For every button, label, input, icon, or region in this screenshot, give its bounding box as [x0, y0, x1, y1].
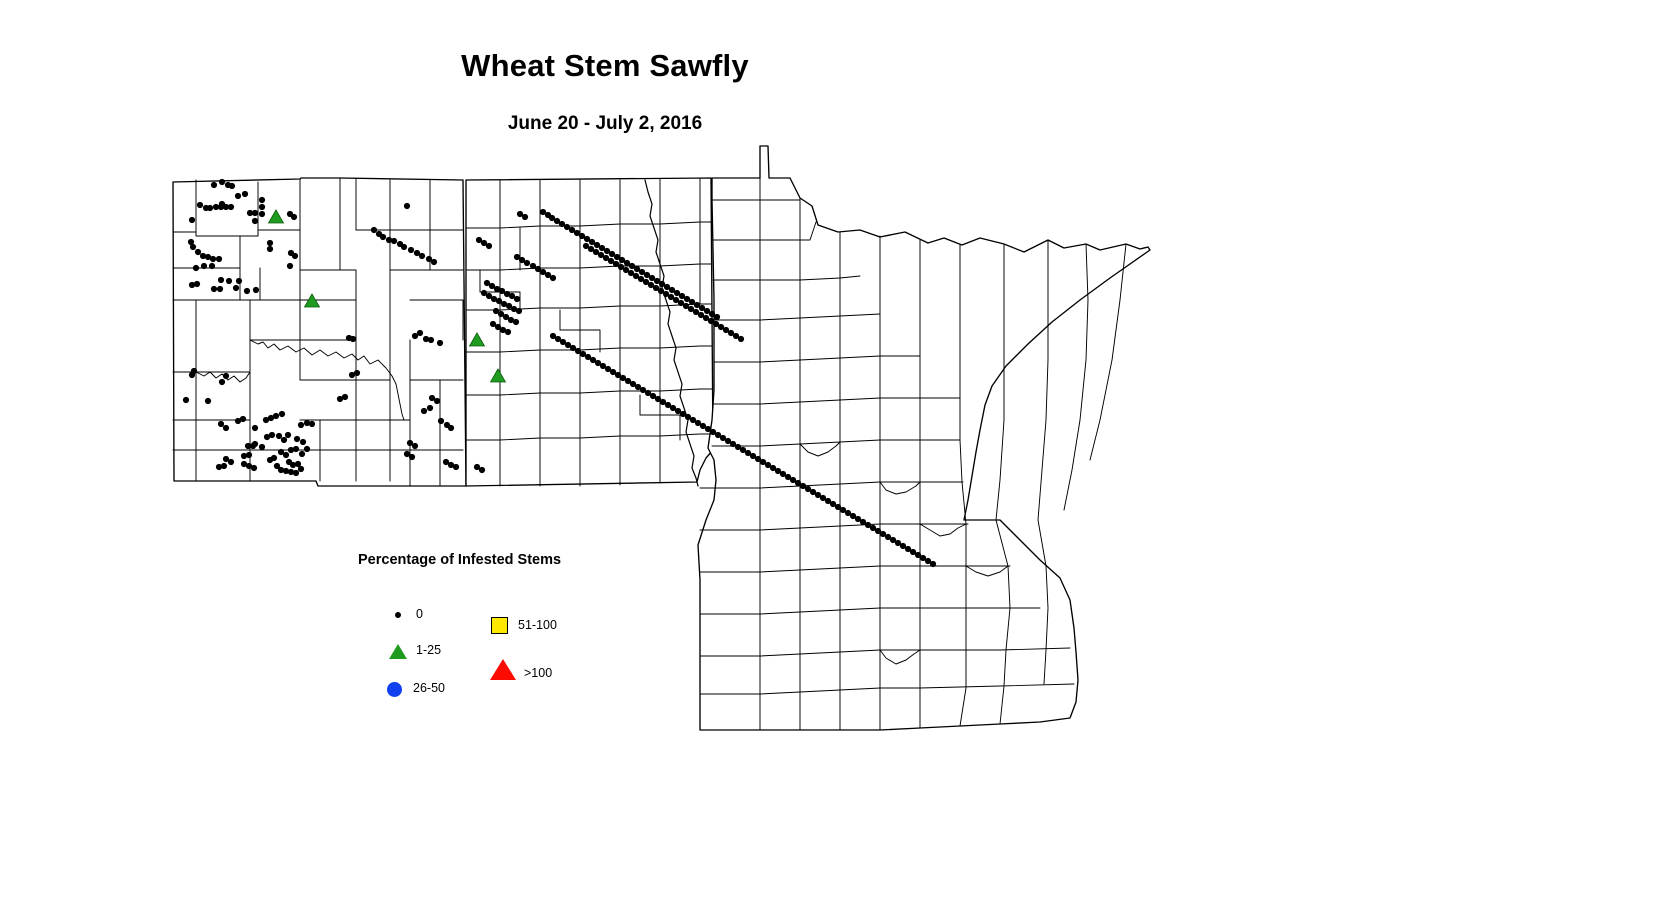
survey-point-0: [428, 337, 434, 343]
survey-point-0: [190, 244, 196, 250]
survey-point-0: [391, 238, 397, 244]
survey-point-0: [183, 397, 189, 403]
survey-point-0: [431, 259, 437, 265]
legend-title: Percentage of Infested Stems: [358, 552, 561, 568]
survey-point-0: [229, 183, 235, 189]
survey-point-0: [201, 263, 207, 269]
survey-point-0: [235, 193, 241, 199]
survey-point-0: [217, 286, 223, 292]
survey-point-0: [292, 253, 298, 259]
survey-point-0: [371, 227, 377, 233]
legend: Percentage of Infested Stems 0 1-25 26-5…: [358, 552, 688, 712]
yellow-square-icon: [488, 615, 514, 637]
survey-point-0: [246, 452, 252, 458]
survey-point-0: [437, 340, 443, 346]
survey-point-0: [427, 405, 433, 411]
survey-point-0: [210, 256, 216, 262]
survey-point-0: [486, 243, 492, 249]
survey-point-0: [404, 203, 410, 209]
survey-point-0: [513, 319, 519, 325]
survey-point-0: [283, 452, 289, 458]
survey-point-0: [259, 204, 265, 210]
survey-point-0: [189, 372, 195, 378]
survey-point-0: [287, 263, 293, 269]
survey-point-0: [401, 244, 407, 250]
survey-point-0: [253, 287, 259, 293]
survey-point-0: [209, 263, 215, 269]
survey-point-0: [309, 421, 315, 427]
survey-point-0: [267, 240, 273, 246]
survey-point-0: [419, 253, 425, 259]
survey-point-0: [197, 202, 203, 208]
survey-point-0: [293, 446, 299, 452]
survey-point-0: [412, 333, 418, 339]
survey-point-0: [421, 408, 427, 414]
survey-point-0: [267, 246, 273, 252]
survey-point-0: [228, 204, 234, 210]
survey-point-0: [522, 214, 528, 220]
survey-point-0: [218, 421, 224, 427]
survey-point-0: [349, 372, 355, 378]
survey-point-0: [219, 179, 225, 185]
survey-point-0: [242, 191, 248, 197]
survey-point-0: [524, 260, 530, 266]
survey-point-0: [211, 286, 217, 292]
survey-point-0: [252, 218, 258, 224]
survey-point-0: [219, 201, 225, 207]
survey-point-0: [550, 275, 556, 281]
survey-point-0: [251, 465, 257, 471]
legend-label-51-100: 51-100: [518, 618, 557, 632]
survey-point-0: [291, 214, 297, 220]
survey-point-0: [194, 281, 200, 287]
survey-point-0: [219, 379, 225, 385]
survey-point-0: [226, 278, 232, 284]
survey-point-0: [223, 425, 229, 431]
survey-point-0: [479, 467, 485, 473]
legend-label-over-100: >100: [524, 666, 552, 680]
survey-point-0: [259, 444, 265, 450]
survey-point-0: [408, 247, 414, 253]
survey-point-0: [244, 288, 250, 294]
blue-circle-icon: [383, 678, 409, 700]
survey-point-0: [714, 314, 720, 320]
survey-point-0: [299, 451, 305, 457]
survey-point-0: [271, 455, 277, 461]
survey-point-0: [236, 278, 242, 284]
survey-point-0: [233, 285, 239, 291]
survey-point-0: [304, 446, 310, 452]
survey-point-0: [193, 265, 199, 271]
survey-point-0: [516, 308, 522, 314]
dot-icon: [386, 604, 412, 626]
survey-point-0: [350, 336, 356, 342]
survey-point-0: [205, 398, 211, 404]
survey-point-0: [285, 432, 291, 438]
survey-point-0: [453, 464, 459, 470]
survey-point-0: [412, 443, 418, 449]
map-svg: [0, 0, 1673, 900]
survey-point-0: [252, 210, 258, 216]
survey-point-0: [434, 398, 440, 404]
survey-point-0: [276, 433, 282, 439]
survey-point-0: [211, 182, 217, 188]
survey-point-0: [216, 256, 222, 262]
survey-point-0: [514, 296, 520, 302]
map-canvas: Wheat Stem Sawfly June 20 - July 2, 2016: [0, 0, 1673, 900]
green-triangle-icon: [386, 640, 412, 662]
survey-point-0: [195, 249, 201, 255]
survey-point-0: [448, 425, 454, 431]
survey-point-0: [252, 441, 258, 447]
survey-point-0: [259, 197, 265, 203]
survey-point-0: [281, 437, 287, 443]
survey-point-0: [279, 411, 285, 417]
red-triangle-icon: [490, 658, 516, 680]
survey-point-0: [438, 418, 444, 424]
survey-point-0: [228, 459, 234, 465]
survey-point-0: [294, 436, 300, 442]
survey-point-0: [273, 413, 279, 419]
survey-point-0: [221, 463, 227, 469]
survey-point-0: [189, 217, 195, 223]
survey-point-0: [298, 466, 304, 472]
survey-point-0: [218, 277, 224, 283]
survey-point-0: [930, 561, 936, 567]
survey-point-0: [337, 396, 343, 402]
survey-point-0: [300, 439, 306, 445]
legend-label-1-25: 1-25: [416, 643, 441, 657]
survey-point-0: [505, 329, 511, 335]
legend-label-26-50: 26-50: [413, 681, 445, 695]
survey-point-0: [380, 234, 386, 240]
survey-point-0: [207, 205, 213, 211]
survey-point-0: [252, 425, 258, 431]
survey-point-0: [738, 336, 744, 342]
legend-label-0: 0: [416, 607, 423, 621]
survey-point-0: [240, 416, 246, 422]
survey-point-0: [293, 470, 299, 476]
survey-point-0: [259, 211, 265, 217]
survey-point-0: [269, 432, 275, 438]
survey-point-0: [298, 422, 304, 428]
survey-map: [0, 0, 1673, 900]
survey-point-0: [409, 454, 415, 460]
survey-point-0: [223, 373, 229, 379]
